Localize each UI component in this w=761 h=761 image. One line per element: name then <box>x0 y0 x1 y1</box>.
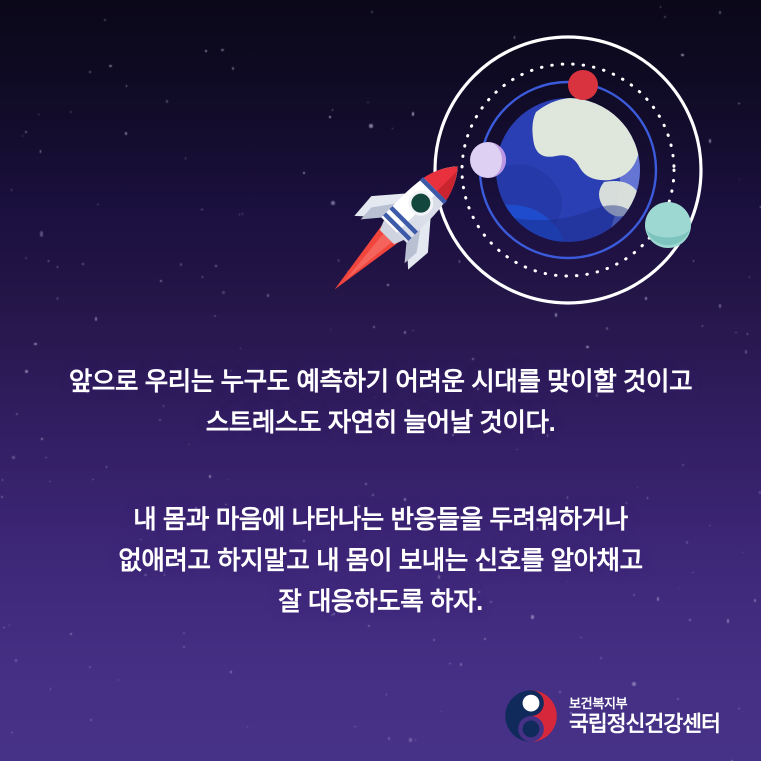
star <box>600 657 602 660</box>
teal-planet <box>645 202 691 248</box>
star <box>386 693 388 696</box>
rocket-flame <box>325 219 404 298</box>
star <box>388 737 390 740</box>
star <box>9 624 11 627</box>
paragraph-1-line-2: 스트레스도 자연히 늘어날 것이다. <box>0 403 761 444</box>
rocket-body-shade <box>394 166 470 242</box>
star <box>126 85 128 87</box>
red-planet <box>568 70 598 100</box>
star <box>332 109 334 111</box>
star <box>183 632 185 634</box>
star <box>745 350 747 354</box>
star <box>329 116 331 118</box>
star <box>412 112 414 116</box>
star <box>681 54 683 56</box>
paragraph-2: 내 몸과 마음에 나타나는 반응들을 두려워하거나 없애려고 하지말고 내 몸이… <box>0 500 761 623</box>
message-copy: 앞으로 우리는 누구도 예측하기 어려운 시대를 맞이할 것이고 스트레스도 자… <box>0 362 761 623</box>
promo-card: 앞으로 우리는 누구도 예측하기 어려운 시대를 맞이할 것이고 스트레스도 자… <box>0 0 761 761</box>
star <box>125 132 127 134</box>
star <box>201 209 203 211</box>
star <box>205 50 207 52</box>
star <box>215 265 217 268</box>
star <box>555 313 557 317</box>
star <box>709 139 711 143</box>
taegeuk-logo-icon <box>503 688 559 744</box>
star <box>580 637 582 639</box>
star <box>660 6 662 8</box>
star <box>97 204 99 206</box>
star <box>514 36 516 39</box>
star <box>109 65 111 67</box>
star <box>433 639 435 641</box>
star <box>472 358 474 360</box>
star <box>40 150 42 153</box>
star <box>104 19 106 21</box>
star <box>369 124 372 127</box>
star <box>180 263 182 265</box>
star <box>409 738 412 741</box>
star <box>247 726 249 729</box>
star <box>738 708 740 710</box>
star <box>645 297 647 300</box>
star <box>449 663 451 665</box>
rocket-fin-right-shade <box>394 226 432 264</box>
star <box>415 739 417 741</box>
star <box>183 646 185 649</box>
star <box>354 726 356 728</box>
star <box>338 259 340 262</box>
star <box>586 346 588 348</box>
rocket-nose-shade <box>435 166 469 200</box>
earth-planet <box>482 98 644 260</box>
rocket-stripe-bottom-1 <box>389 206 418 235</box>
star <box>34 343 36 345</box>
lavender-planet <box>470 142 506 178</box>
star <box>331 201 334 204</box>
paragraph-1-line-1: 앞으로 우리는 누구도 예측하기 어려운 시대를 맞이할 것이고 <box>0 362 761 403</box>
rocket-stripe-top <box>420 177 447 204</box>
paragraph-2-line-2: 없애려고 하지말고 내 몸이 보내는 신호를 알아채고 <box>0 541 761 582</box>
star <box>367 102 369 104</box>
star <box>267 294 269 296</box>
star <box>118 679 120 681</box>
rocket-flame-inner <box>340 226 399 285</box>
star <box>221 49 223 51</box>
outer-orbit-ring <box>435 37 701 303</box>
rocket-nose <box>424 155 469 200</box>
star <box>214 315 216 317</box>
star <box>11 189 13 191</box>
rocket-body <box>381 154 470 243</box>
middle-orbit-ring <box>462 64 674 276</box>
star <box>22 135 24 138</box>
star <box>459 260 461 263</box>
paragraph-2-line-3: 잘 대응하도록 하자. <box>0 582 761 623</box>
rocket-stripe-bottom-2 <box>383 212 412 241</box>
rocket-ship <box>306 138 486 318</box>
organization-logo: 보건복지부 국립정신건강센터 <box>503 688 720 744</box>
star <box>202 276 204 278</box>
star <box>392 128 394 130</box>
star <box>239 213 241 216</box>
star <box>373 326 375 328</box>
star <box>82 263 84 265</box>
star <box>632 682 635 685</box>
star <box>347 271 349 273</box>
star <box>57 297 59 300</box>
star <box>70 111 72 113</box>
star <box>380 238 382 240</box>
space-illustration <box>0 0 761 330</box>
star <box>738 103 740 105</box>
star <box>25 257 27 259</box>
star <box>719 304 721 308</box>
star <box>460 663 462 666</box>
star <box>747 333 749 335</box>
rocket-nozzle <box>377 220 404 247</box>
rocket-fin-right <box>393 216 448 271</box>
star <box>95 317 97 321</box>
star <box>702 325 704 328</box>
center-name: 국립정신건강센터 <box>569 714 720 736</box>
star <box>90 719 92 721</box>
rocket-window <box>407 190 434 217</box>
logo-text-block: 보건복지부 국립정신건강센터 <box>569 697 720 736</box>
ministry-name: 보건복지부 <box>569 697 720 710</box>
star <box>387 284 389 286</box>
star <box>330 329 332 331</box>
star <box>441 711 443 713</box>
star <box>15 659 17 662</box>
star <box>484 638 486 640</box>
star <box>48 260 50 263</box>
rocket-window-rim <box>403 185 438 220</box>
paragraph-2-line-1: 내 몸과 마음에 나타나는 반응들을 두려워하거나 <box>0 500 761 541</box>
star <box>404 331 406 334</box>
star <box>50 688 52 690</box>
star <box>371 11 373 13</box>
star <box>749 276 751 278</box>
star <box>739 179 741 181</box>
star <box>303 172 305 174</box>
star <box>693 260 695 262</box>
star <box>166 100 168 103</box>
star <box>368 625 370 627</box>
star <box>185 157 187 160</box>
star <box>412 330 414 332</box>
star <box>719 11 721 14</box>
star <box>11 732 13 734</box>
star <box>160 280 162 282</box>
star <box>3 627 5 629</box>
star <box>70 633 72 635</box>
paragraph-1: 앞으로 우리는 누구도 예측하기 어려운 시대를 맞이할 것이고 스트레스도 자… <box>0 362 761 444</box>
star <box>222 291 225 294</box>
star <box>40 231 43 237</box>
star <box>25 131 27 133</box>
star <box>242 213 244 215</box>
star <box>89 666 91 668</box>
star <box>89 71 91 74</box>
rocket-fin-left-shade <box>360 192 398 230</box>
star <box>232 67 234 70</box>
star <box>230 671 232 673</box>
rocket-fin-left <box>353 176 408 231</box>
star <box>735 332 737 334</box>
star <box>240 348 242 350</box>
star <box>57 266 59 268</box>
star <box>38 114 40 116</box>
star <box>606 327 608 330</box>
inner-orbit-ring <box>480 82 656 258</box>
star <box>664 16 666 18</box>
